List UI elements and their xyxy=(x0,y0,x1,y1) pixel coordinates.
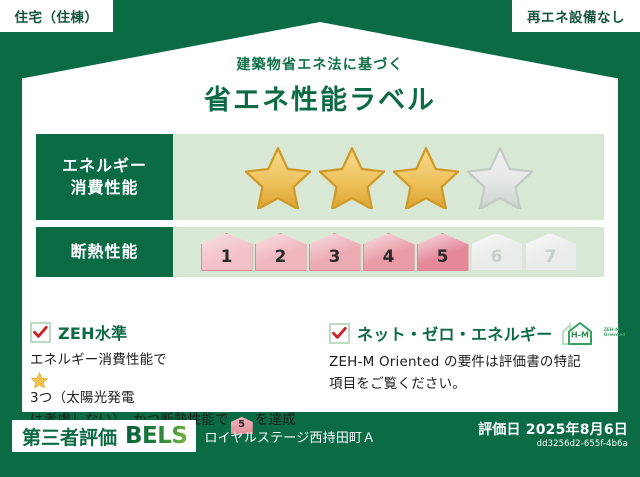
net-zero-checkbox[interactable] xyxy=(329,323,350,344)
page-title: 省エネ性能ラベル xyxy=(0,78,640,117)
check-icon xyxy=(33,326,48,339)
zeh-text-part2: 3つ（太陽光発電 xyxy=(30,390,135,406)
renewable-equipment-badge: 再エネ設備なし xyxy=(512,0,640,32)
insulation-badge-value: 5 xyxy=(437,247,449,267)
insulation-row: 断熱性能 1234567 xyxy=(36,227,604,277)
title-block: 建築物省エネ法に基づく 省エネ性能ラベル xyxy=(0,54,640,117)
svg-text:H-M: H-M xyxy=(571,331,589,340)
insulation-badge-inactive: 6 xyxy=(471,233,523,271)
insulation-badge-value: 2 xyxy=(275,247,287,267)
rating-rows: エネルギー 消費性能 断熱性能 1234567 xyxy=(36,134,604,284)
energy-label-line2: 消費性能 xyxy=(70,178,138,197)
bels-wordmark: BELS xyxy=(125,423,187,449)
zeh-standard-checkbox[interactable] xyxy=(30,322,51,343)
renewable-equipment-label: 再エネ設備なし xyxy=(527,6,625,26)
building-type-label: 住宅（住棟） xyxy=(15,6,99,26)
footer-bar: 第三者評価 BELS ロイヤルステージ西持田町Ａ 評価日 2025年8月6日 d… xyxy=(0,412,640,477)
building-type-badge: 住宅（住棟） xyxy=(0,0,113,32)
insulation-badge-value: 1 xyxy=(221,247,233,267)
zeh-m-caption-line2: Oriented xyxy=(604,333,626,338)
insulation-badge-active: 1 xyxy=(201,233,253,271)
footer-content: 第三者評価 BELS ロイヤルステージ西持田町Ａ 評価日 2025年8月6日 d… xyxy=(12,420,628,452)
net-zero-description: ZEH-M Oriented の要件は評価書の特記 項目をご覧ください。 xyxy=(329,352,610,396)
insulation-badge-active: 3 xyxy=(309,233,361,271)
zeh-standard-title: ZEH水準 xyxy=(58,320,127,344)
insulation-value: 1234567 xyxy=(173,227,604,277)
check-icon xyxy=(332,327,347,340)
inline-star-icon xyxy=(31,372,48,388)
insulation-badge-value: 3 xyxy=(329,247,341,267)
third-party-eval-label: 第三者評価 xyxy=(22,423,117,450)
insulation-badge-active: 5 xyxy=(417,233,469,271)
net-zero-header: ネット・ゼロ・エネルギー H-M ZEH-M Oriented xyxy=(329,320,610,346)
evaluation-id: dd3256d2-655f-4b6a xyxy=(478,440,628,450)
energy-consumption-label: エネルギー 消費性能 xyxy=(36,134,173,220)
title-subtitle: 建築物省エネ法に基づく xyxy=(0,54,640,74)
zeh-standard-header: ZEH水準 xyxy=(30,320,311,344)
insulation-badge-value: 7 xyxy=(545,247,557,267)
insulation-badge-active: 4 xyxy=(363,233,415,271)
building-name: ロイヤルステージ西持田町Ａ xyxy=(204,427,375,446)
star-filled-icon xyxy=(245,146,311,209)
insulation-badge-active: 2 xyxy=(255,233,307,271)
insulation-badge-inactive: 7 xyxy=(525,233,577,271)
bels-logo-chip: 第三者評価 BELS xyxy=(12,420,196,452)
insulation-badge-value: 6 xyxy=(491,247,503,267)
star-filled-icon xyxy=(319,146,385,209)
net-zero-text-line1: ZEH-M Oriented の要件は評価書の特記 xyxy=(329,354,581,370)
zeh-text-part1: エネルギー消費性能で xyxy=(30,352,167,368)
star-rating xyxy=(173,134,604,220)
insulation-badge-value: 4 xyxy=(383,247,395,267)
zeh-m-logo-caption: ZEH-M Oriented xyxy=(604,328,626,339)
zeh-m-caption-line1: ZEH-M xyxy=(604,328,620,333)
star-filled-icon xyxy=(393,146,459,209)
energy-label-line1: エネルギー xyxy=(62,156,147,175)
insulation-label: 断熱性能 xyxy=(36,227,173,277)
evaluation-date: 評価日 2025年8月6日 xyxy=(478,422,628,438)
evaluation-info: 評価日 2025年8月6日 dd3256d2-655f-4b6a xyxy=(478,422,628,450)
net-zero-text-line2: 項目をご覧ください。 xyxy=(329,376,466,392)
insulation-badge-strip: 1234567 xyxy=(201,233,577,271)
net-zero-title: ネット・ゼロ・エネルギー xyxy=(357,321,553,345)
star-empty-icon xyxy=(467,146,533,209)
zeh-m-house-icon: H-M xyxy=(560,320,598,346)
insulation-label-text: 断熱性能 xyxy=(70,241,138,263)
energy-consumption-row: エネルギー 消費性能 xyxy=(36,134,604,220)
energy-label: 住宅（住棟） 再エネ設備なし 建築物省エネ法に基づく 省エネ性能ラベル エネルギ… xyxy=(0,0,640,477)
